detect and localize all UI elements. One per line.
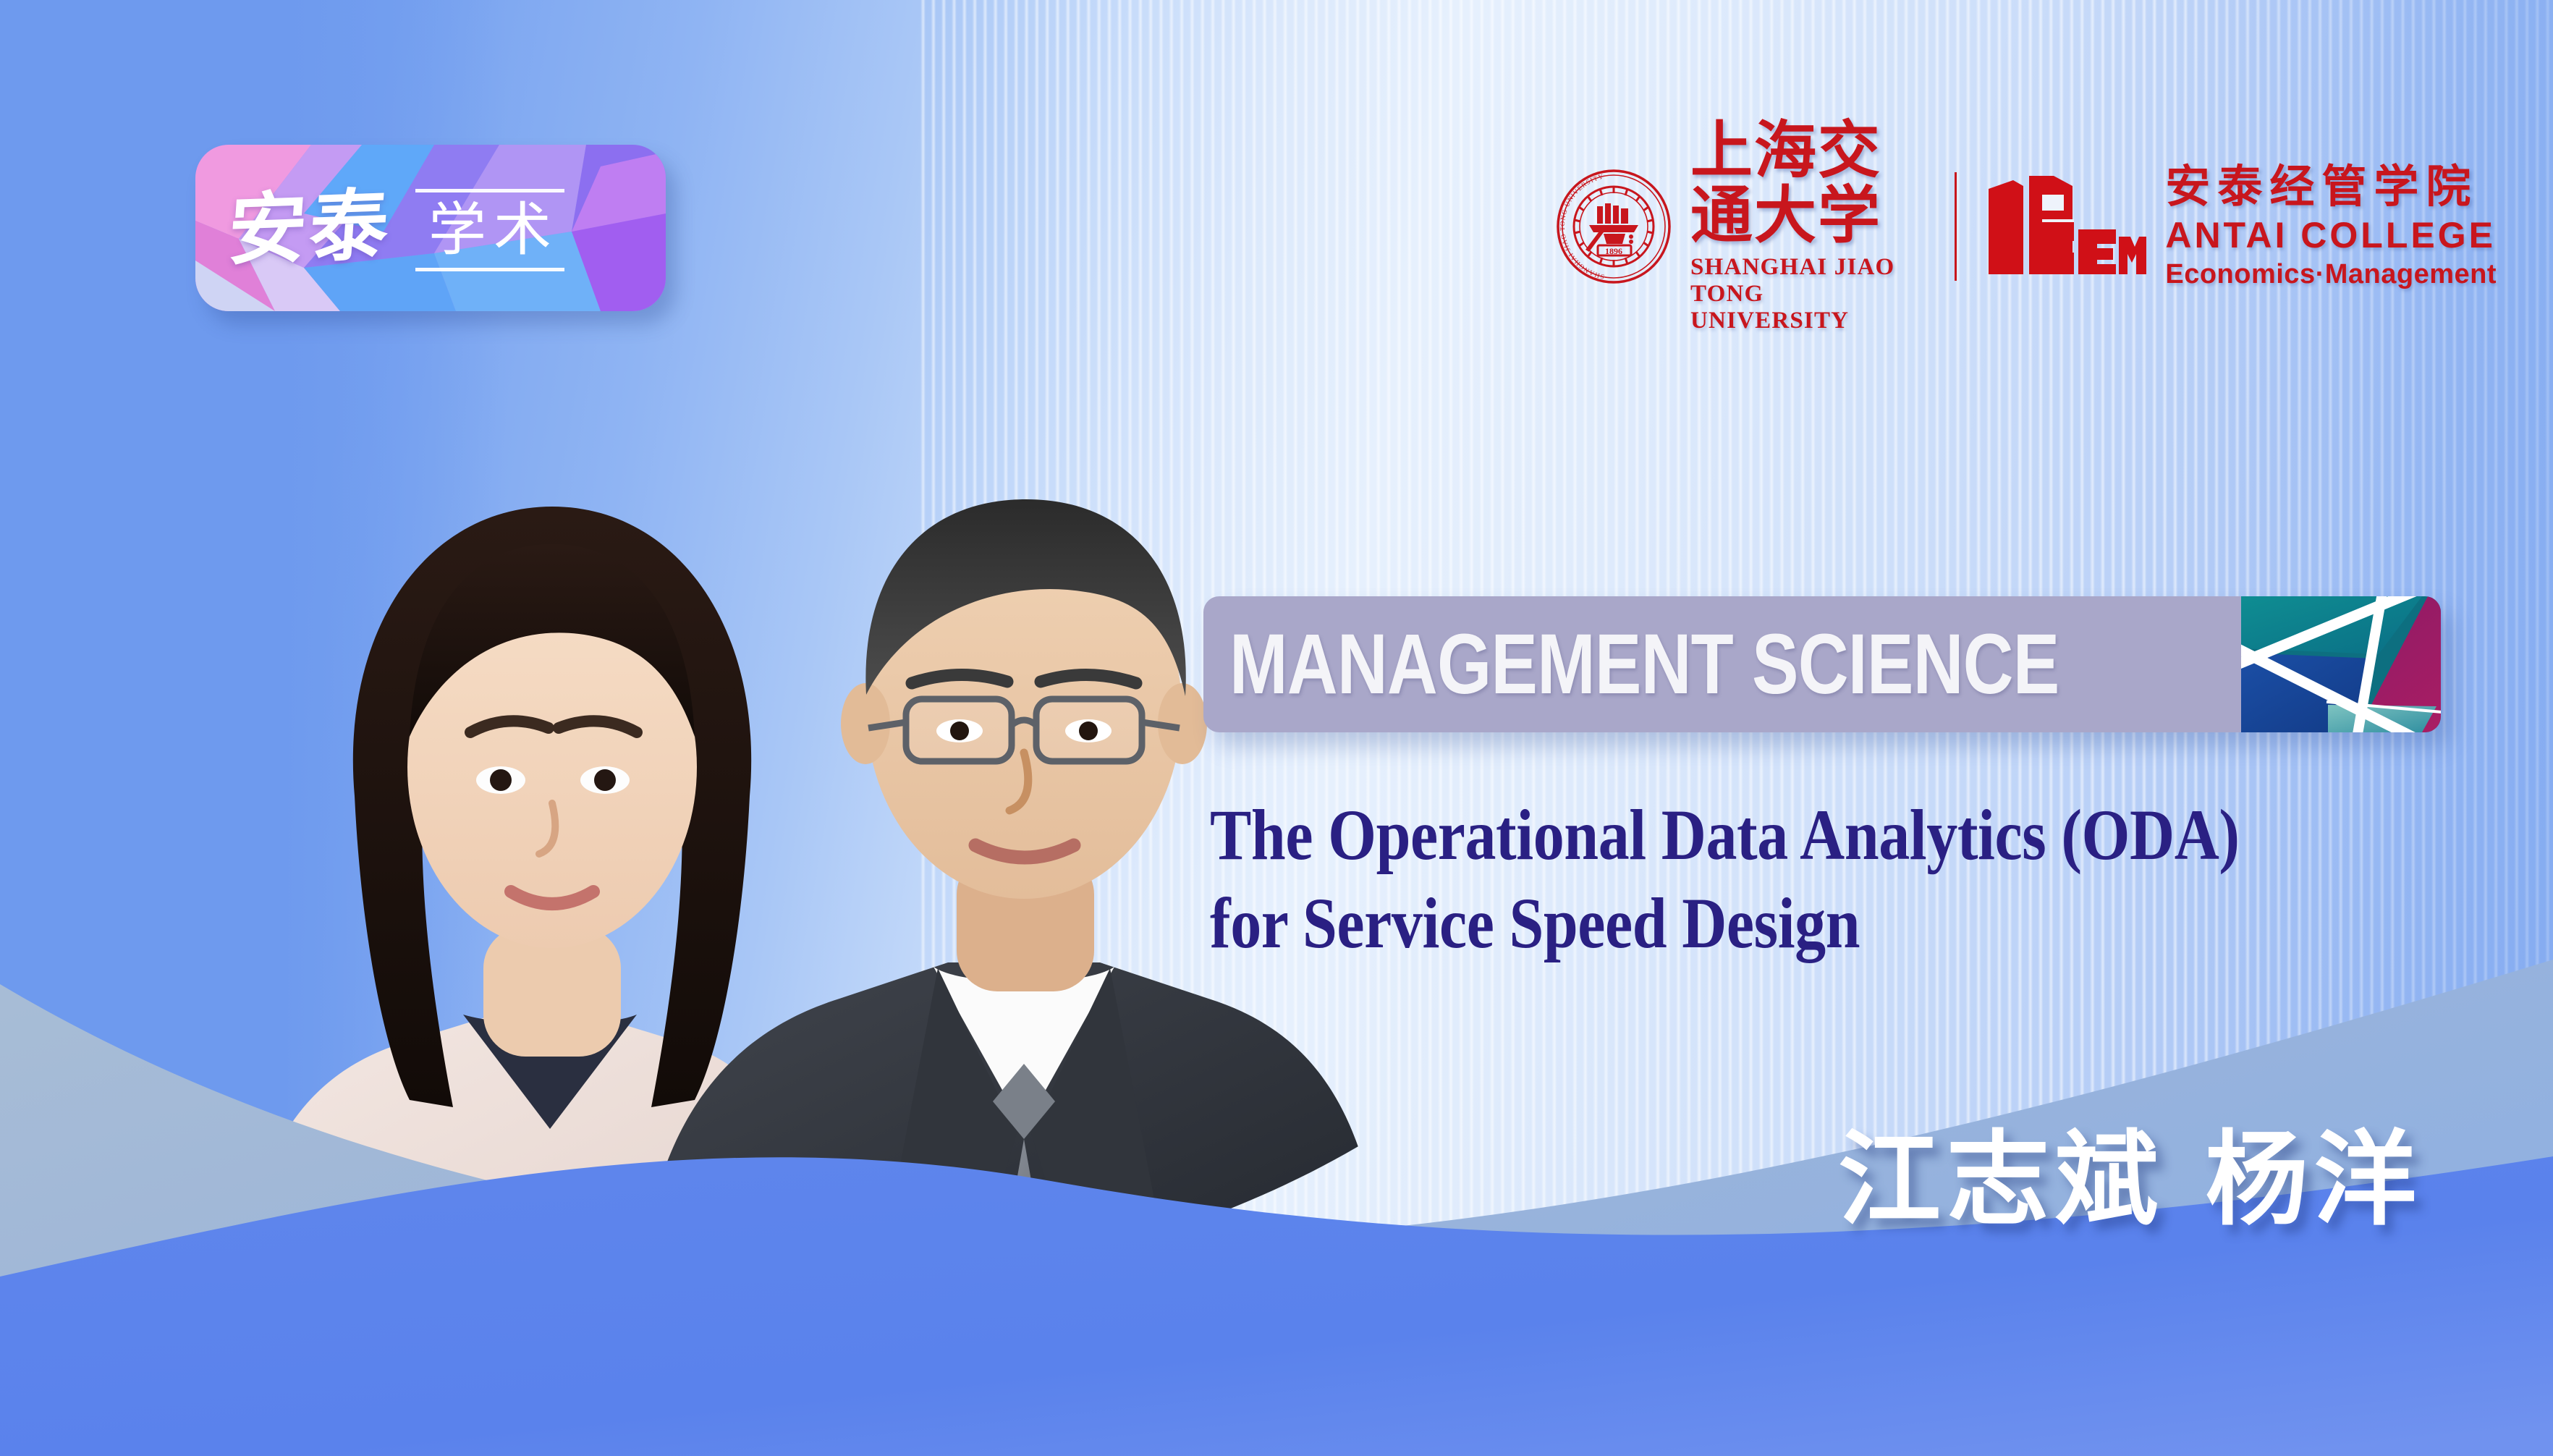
acem-name-cn: 安泰经管学院 (2165, 162, 2497, 211)
badge-antai-label: 安泰 (226, 186, 394, 270)
sjtu-wordmark: 上海交通大学 SHANGHAI JIAO TONG UNIVERSITY (1690, 118, 1926, 335)
acem-monogram-icon (1981, 169, 2148, 284)
logo-divider (1955, 172, 1957, 281)
acem-tagline: Economics·Management (2165, 260, 2497, 290)
journal-banner: MANAGEMENT SCIENCE (1203, 596, 2441, 732)
sjtu-name-en: SHANGHAI JIAO TONG UNIVERSITY (1690, 254, 1926, 334)
acem-name-en: ANTAI COLLEGE (2165, 216, 2497, 255)
journal-title: MANAGEMENT SCIENCE (1229, 622, 2059, 707)
sjtu-seal-icon: 1896 SHANGHAI JIAO TONG UNIVERSITY (1556, 169, 1672, 284)
talk-title-line-2: for Service Speed Design (1210, 879, 2355, 968)
institution-logo-bar: 1896 SHANGHAI JIAO TONG UNIVERSITY 上海交通大… (1556, 156, 2497, 297)
badge-xueshu-block: 学术 (415, 185, 564, 271)
antai-academic-badge[interactable]: 安泰 学术 (195, 145, 666, 311)
badge-rule-bottom (415, 268, 564, 271)
management-science-cover-art (2241, 596, 2441, 732)
journal-title-block: MANAGEMENT SCIENCE (1203, 596, 2241, 732)
talk-title: The Operational Data Analytics (ODA) for… (1210, 791, 2355, 968)
event-poster: 安泰 学术 (0, 0, 2553, 1456)
talk-title-line-1: The Operational Data Analytics (ODA) (1210, 791, 2355, 879)
sjtu-name-cn: 上海交通大学 (1690, 118, 1926, 249)
acem-wordmark: 安泰经管学院 ANTAI COLLEGE Economics·Managemen… (2165, 162, 2497, 290)
badge-xueshu-label: 学术 (421, 192, 559, 268)
speaker-names: 江志斌 杨洋 (1838, 1129, 2422, 1232)
seal-year: 1896 (1605, 246, 1622, 256)
